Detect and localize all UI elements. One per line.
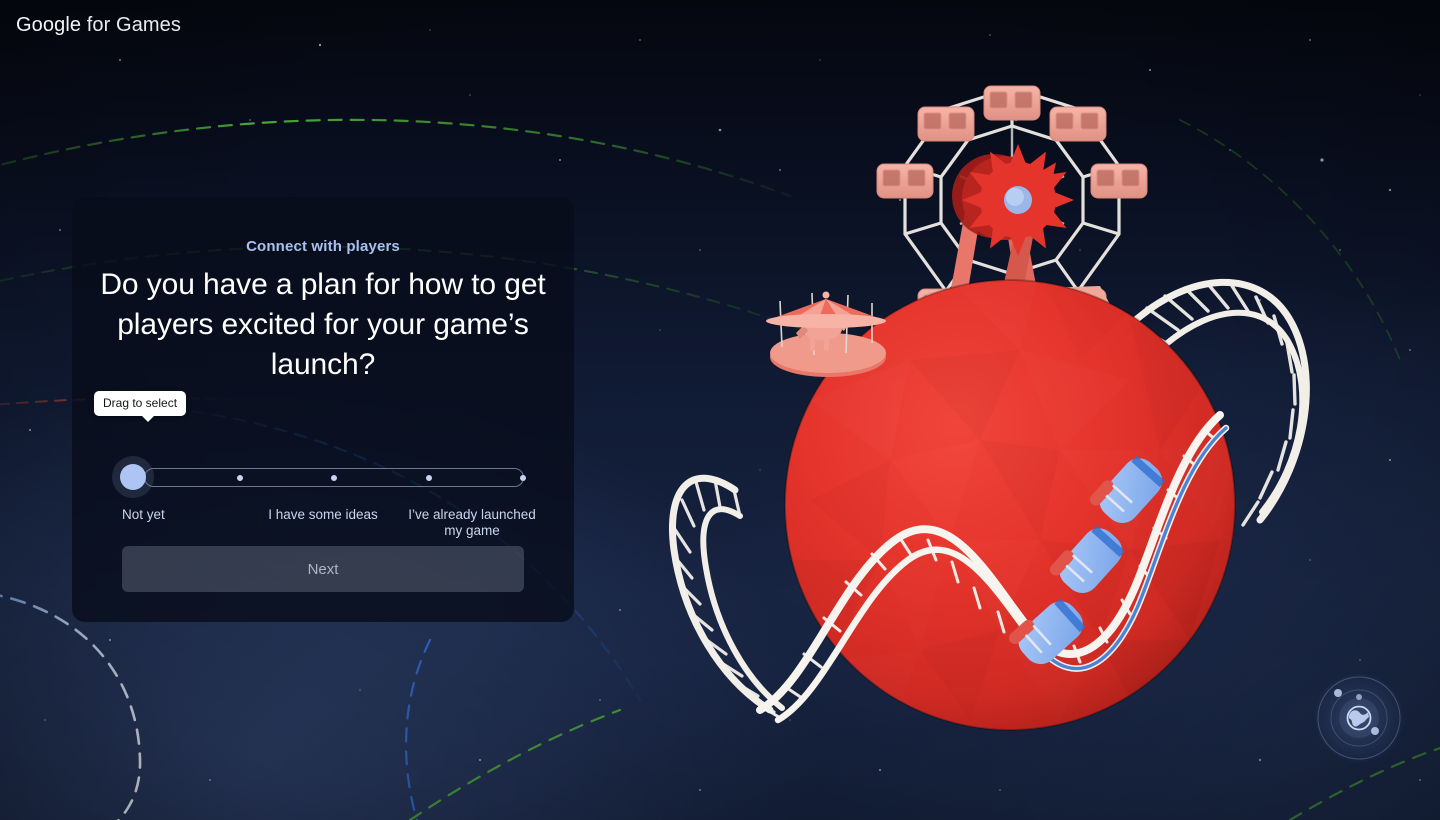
brand-logo[interactable]: Google for Games [16, 14, 181, 37]
slider-labels: Not yet I have some ideas I’ve already l… [122, 507, 524, 549]
page-title: Do you have a plan for how to get player… [98, 265, 548, 385]
brand-for-games-text: for Games [81, 14, 181, 36]
slider-group[interactable]: Drag to select Not yet I have some ideas… [122, 427, 524, 517]
slider-thumb[interactable] [112, 456, 154, 498]
brand-google-text: Google [16, 14, 81, 36]
slider-tick[interactable] [331, 475, 337, 481]
globe-icon [1315, 674, 1403, 762]
drag-to-select-tooltip: Drag to select [94, 391, 186, 416]
globe-orbit-widget[interactable] [1315, 674, 1403, 762]
slider-label-center: I have some ideas [263, 507, 383, 523]
slider-track[interactable] [144, 468, 524, 487]
app-root: Google for Games Connect with players Do… [0, 0, 1440, 820]
slider-tick[interactable] [426, 475, 432, 481]
next-button[interactable]: Next [122, 546, 524, 592]
amusement-park-planet-illustration [660, 20, 1360, 780]
question-card: Connect with players Do you have a plan … [72, 197, 574, 622]
slider-tick[interactable] [520, 475, 526, 481]
slider-label-right: I’ve already launched my game [404, 507, 540, 539]
slider-label-left: Not yet [122, 507, 242, 523]
card-eyebrow: Connect with players [72, 238, 574, 255]
slider-tick[interactable] [237, 475, 243, 481]
